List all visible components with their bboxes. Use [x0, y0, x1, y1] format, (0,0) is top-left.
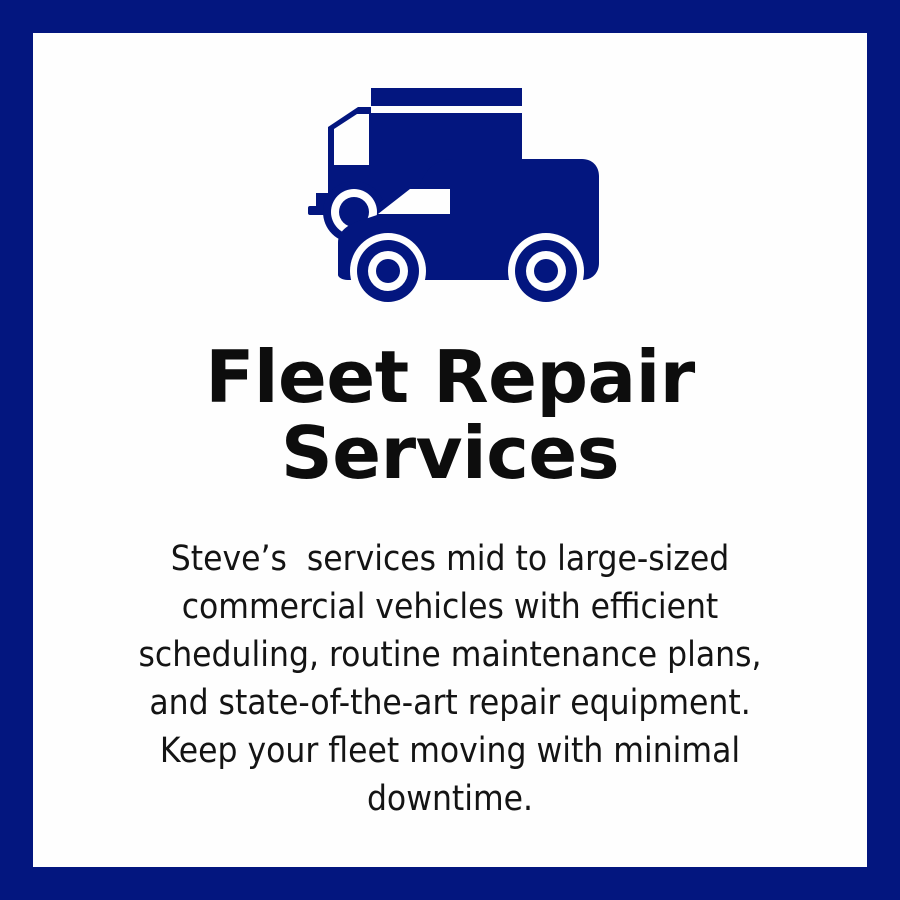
- page-title: Fleet Repair Services: [33, 339, 867, 491]
- service-description-line-4: and state-of-the-art repair equipment.: [81, 679, 819, 727]
- service-description-line-3: scheduling, routine maintenance plans,: [81, 631, 819, 679]
- van-front-wheel: [350, 233, 426, 309]
- service-description-line-6: downtime.: [81, 775, 819, 823]
- fleet-repair-card: Fleet Repair Services Steve’s services m…: [0, 0, 900, 900]
- page-title-line-2: Services: [53, 415, 847, 491]
- fleet-trucks-icon: [270, 75, 630, 315]
- box-truck-roof-rail: [371, 88, 522, 106]
- service-description-line-5: Keep your fleet moving with minimal: [81, 727, 819, 775]
- page-title-line-1: Fleet Repair: [53, 339, 847, 415]
- service-description-line-2: commercial vehicles with efficient: [81, 583, 819, 631]
- service-description-line-1: Steve’s services mid to large-sized: [81, 535, 819, 583]
- card-inner-panel: Fleet Repair Services Steve’s services m…: [33, 33, 867, 867]
- service-description: Steve’s services mid to large-sized comm…: [33, 535, 867, 823]
- van-rear-wheel: [508, 233, 584, 309]
